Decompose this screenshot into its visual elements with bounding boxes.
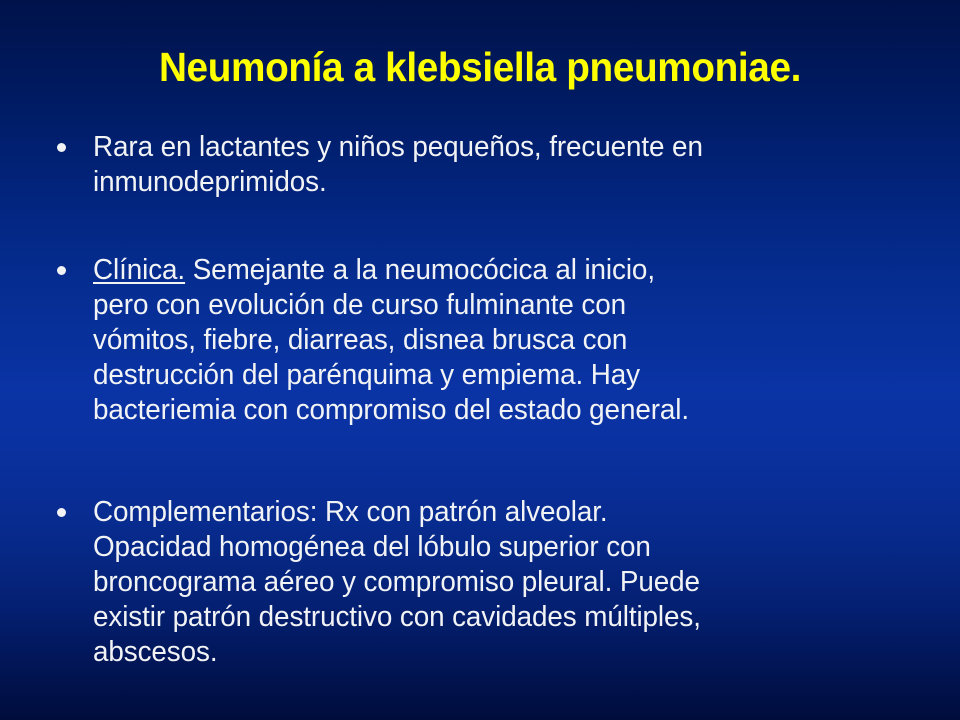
slide-canvas: Neumonía a klebsiella pneumoniae. Rara e… bbox=[0, 0, 960, 720]
bullet-line: abscesos. bbox=[93, 635, 898, 670]
bullet-line: destrucción del parénquima y empiema. Ha… bbox=[93, 358, 898, 393]
bullet-line: bacteriemia con compromiso del estado ge… bbox=[93, 393, 898, 428]
list-item: Clínica. Semejante a la neumocócica al i… bbox=[52, 253, 932, 428]
slide-body: Rara en lactantes y niños pequeños, frec… bbox=[52, 130, 932, 670]
bullet-dot-icon bbox=[57, 266, 66, 275]
bullet-line: inmunodeprimidos. bbox=[93, 165, 898, 200]
bullet-line: Rara en lactantes y niños pequeños, frec… bbox=[93, 130, 898, 165]
bullet-line: pero con evolución de curso fulminante c… bbox=[93, 288, 898, 323]
bullet-line: vómitos, fiebre, diarreas, disnea brusca… bbox=[93, 323, 898, 358]
bullet-line: broncograma aéreo y compromiso pleural. … bbox=[93, 565, 898, 600]
bullet-line-first: Clínica. Semejante a la neumocócica al i… bbox=[93, 253, 898, 288]
bullet-line: Complementarios: Rx con patrón alveolar. bbox=[93, 495, 898, 530]
page-title: Neumonía a klebsiella pneumoniae. bbox=[26, 44, 933, 90]
list-item: Complementarios: Rx con patrón alveolar.… bbox=[52, 495, 932, 670]
bullet-dot-icon bbox=[57, 508, 66, 517]
bullet-line-rest: Semejante a la neumocócica al inicio, bbox=[185, 254, 655, 286]
underlined-lead-label: Clínica. bbox=[93, 254, 185, 286]
bullet-dot-icon bbox=[57, 143, 66, 152]
list-item: Rara en lactantes y niños pequeños, frec… bbox=[52, 130, 932, 200]
bullet-line: existir patrón destructivo con cavidades… bbox=[93, 600, 898, 635]
bullet-line: Opacidad homogénea del lóbulo superior c… bbox=[93, 530, 898, 565]
